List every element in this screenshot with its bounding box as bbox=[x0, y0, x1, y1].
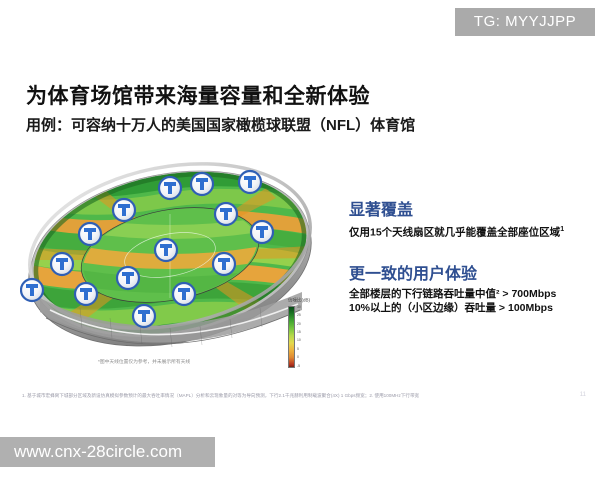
stadium-3d-render bbox=[20, 158, 320, 358]
callout-coverage-heading: 显著覆盖 bbox=[349, 196, 564, 220]
watermark-bottom-left: www.cnx-28circle.com bbox=[0, 437, 215, 467]
callout-experience-line-1: 全部楼层的下行链路吞吐量中值² > 700Mbps bbox=[349, 287, 556, 301]
callout-coverage: 显著覆盖 仅用15个天线扇区就几乎能覆盖全部座位区域1 bbox=[349, 196, 564, 240]
snr-tick: 10 bbox=[297, 339, 301, 342]
page-number: 11 bbox=[580, 392, 586, 398]
snr-tick: 0 bbox=[297, 356, 301, 359]
snr-tick: -5 bbox=[297, 365, 301, 368]
snr-tick: 30 bbox=[297, 306, 301, 309]
snr-tick: 15 bbox=[297, 331, 301, 334]
callout-coverage-text: 仅用15个天线扇区就几乎能覆盖全部座位区域 bbox=[349, 227, 560, 239]
page-title: 为体育场馆带来海量容量和全新体验 bbox=[26, 80, 370, 110]
footnote-ref-1: 1 bbox=[560, 226, 564, 233]
figure-caption: *图中天线位置仅为参考，并未展示所有天线 bbox=[98, 358, 190, 365]
callout-coverage-line: 仅用15个天线扇区就几乎能覆盖全部座位区域1 bbox=[349, 223, 564, 240]
callout-experience-line-2: 10%以上的（小区边缘）吞吐量 > 100Mbps bbox=[349, 301, 556, 315]
snr-gradient-bar bbox=[288, 306, 295, 368]
slide-footnote: 1. 基于城市宏蜂窝下城部分区域及新设仿真模拟参数预计的最大吞吐率情况（MAPL… bbox=[22, 392, 542, 400]
snr-legend: 信噪比(dB) 30 25 20 15 10 5 0 -5 bbox=[288, 297, 340, 375]
watermark-top-right: TG: MYYJJPP bbox=[455, 8, 595, 36]
snr-tick: 20 bbox=[297, 323, 301, 326]
snr-tick: 25 bbox=[297, 314, 301, 317]
snr-tick-labels: 30 25 20 15 10 5 0 -5 bbox=[297, 306, 301, 368]
stadium-svg bbox=[20, 158, 320, 358]
page-subtitle: 用例：可容纳十万人的美国国家橄榄球联盟（NFL）体育馆 bbox=[26, 114, 415, 135]
snr-tick: 5 bbox=[297, 348, 301, 351]
snr-legend-title: 信噪比(dB) bbox=[288, 297, 335, 303]
callout-experience-heading: 更一致的用户体验 bbox=[349, 260, 556, 284]
callout-user-experience: 更一致的用户体验 全部楼层的下行链路吞吐量中值² > 700Mbps 10%以上… bbox=[349, 260, 556, 315]
